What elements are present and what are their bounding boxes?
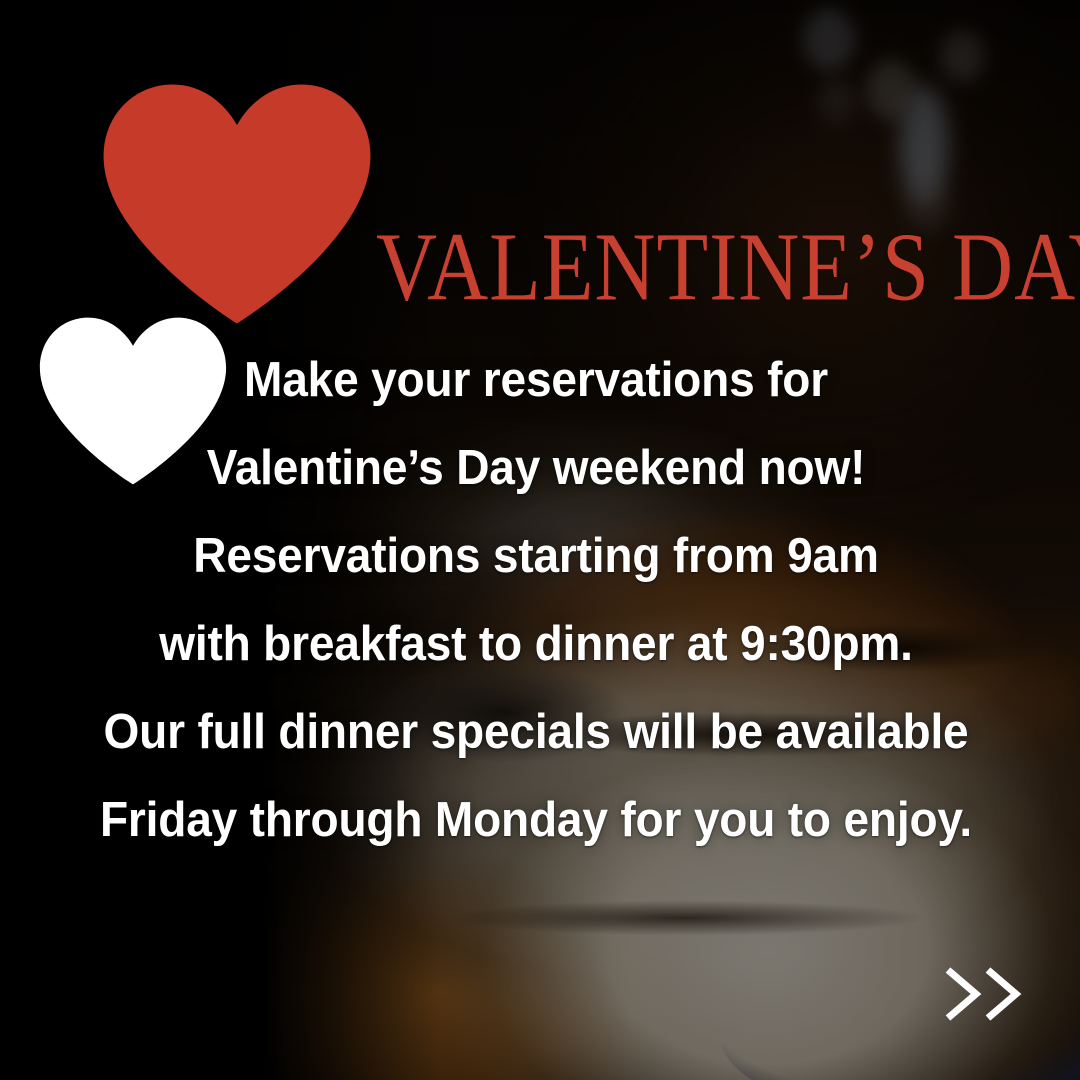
body-line-3: Reservations starting from 9am — [32, 512, 1040, 600]
body-line-2: Valentine’s Day weekend now! — [32, 424, 1040, 512]
body-line-5: Our full dinner specials will be availab… — [32, 688, 1040, 776]
body-line-6: Friday through Monday for you to enjoy. — [32, 776, 1040, 864]
heart-red-icon — [98, 84, 376, 324]
promo-body-copy: Make your reservations for Valentine’s D… — [0, 336, 1072, 864]
body-line-4: with breakfast to dinner at 9:30pm. — [32, 600, 1040, 688]
body-line-1: Make your reservations for — [32, 336, 1040, 424]
carousel-next-chevrons-icon[interactable] — [942, 962, 1028, 1026]
valentines-promo-poster: VALENTINE’S DAY Make your reservations f… — [0, 0, 1080, 1080]
headline-valentines-day: VALENTINE’S DAY — [376, 218, 974, 316]
